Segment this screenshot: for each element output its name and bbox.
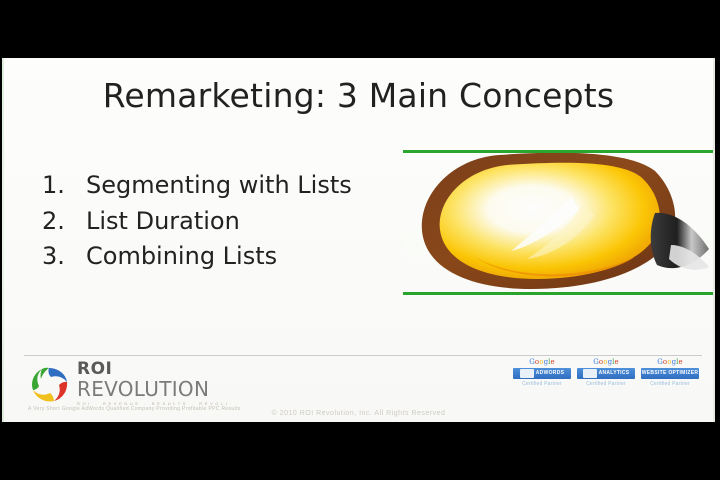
- badge-caption: Certified Partner: [577, 381, 635, 387]
- badge-google-website-optimizer: Google WEBSITE OPTIMIZER Certified Partn…: [641, 358, 699, 387]
- list-item-number: 3.: [42, 239, 86, 275]
- badge-product-bar: ADWORDS: [513, 368, 571, 379]
- lightbulb-icon: [403, 153, 715, 292]
- list-item-label: Segmenting with Lists: [86, 168, 402, 204]
- google-wordmark: Google: [641, 358, 699, 367]
- badge-product-label: ANALYTICS: [599, 368, 630, 379]
- badge-product-bar: WEBSITE OPTIMIZER: [641, 368, 699, 379]
- letterbox-bar-bottom: [0, 422, 720, 480]
- concepts-list: 1. Segmenting with Lists 2. List Duratio…: [42, 168, 402, 275]
- list-item-number: 1.: [42, 168, 86, 204]
- badge-caption: Certified Partner: [641, 381, 699, 387]
- copyright-notice: © 2010 ROI Revolution, Inc. All Rights R…: [2, 410, 715, 417]
- certification-badges: Google ADWORDS Certified Partner Google …: [513, 358, 699, 387]
- adwords-chip-icon: [520, 369, 534, 378]
- brand-name-secondary: REVOLUTION: [77, 379, 227, 399]
- brand-logo: ROI REVOLUTION ROI . REVENUE . RESULTS .…: [28, 361, 227, 406]
- video-player-viewport: Remarketing: 3 Main Concepts 1. Segmenti…: [0, 0, 720, 480]
- list-item-number: 2.: [42, 204, 86, 240]
- letterbox-bar-top: [0, 0, 720, 58]
- google-wordmark: Google: [513, 358, 571, 367]
- list-item-label: List Duration: [86, 204, 402, 240]
- badge-product-bar: ANALYTICS: [577, 368, 635, 379]
- list-item: 3. Combining Lists: [42, 239, 402, 275]
- badge-product-label: ADWORDS: [536, 368, 565, 379]
- list-item-label: Combining Lists: [86, 239, 402, 275]
- brand-wordmark: ROI REVOLUTION ROI . REVENUE . RESULTS .…: [77, 361, 227, 406]
- brand-name-primary: ROI: [77, 361, 227, 378]
- analytics-chip-icon: [583, 369, 597, 378]
- figure-rule-bottom: [403, 292, 715, 295]
- footer-divider: [24, 355, 702, 356]
- list-item: 2. List Duration: [42, 204, 402, 240]
- badge-product-label: WEBSITE OPTIMIZER: [642, 368, 699, 379]
- google-wordmark: Google: [577, 358, 635, 367]
- roi-swirl-icon: [28, 364, 70, 404]
- presentation-slide: Remarketing: 3 Main Concepts 1. Segmenti…: [2, 58, 715, 422]
- badge-google-adwords: Google ADWORDS Certified Partner: [513, 358, 571, 387]
- slide-title: Remarketing: 3 Main Concepts: [2, 76, 715, 115]
- badge-google-analytics: Google ANALYTICS Certified Partner: [577, 358, 635, 387]
- list-item: 1. Segmenting with Lists: [42, 168, 402, 204]
- badge-caption: Certified Partner: [513, 381, 571, 387]
- lightbulb-figure: [403, 150, 715, 295]
